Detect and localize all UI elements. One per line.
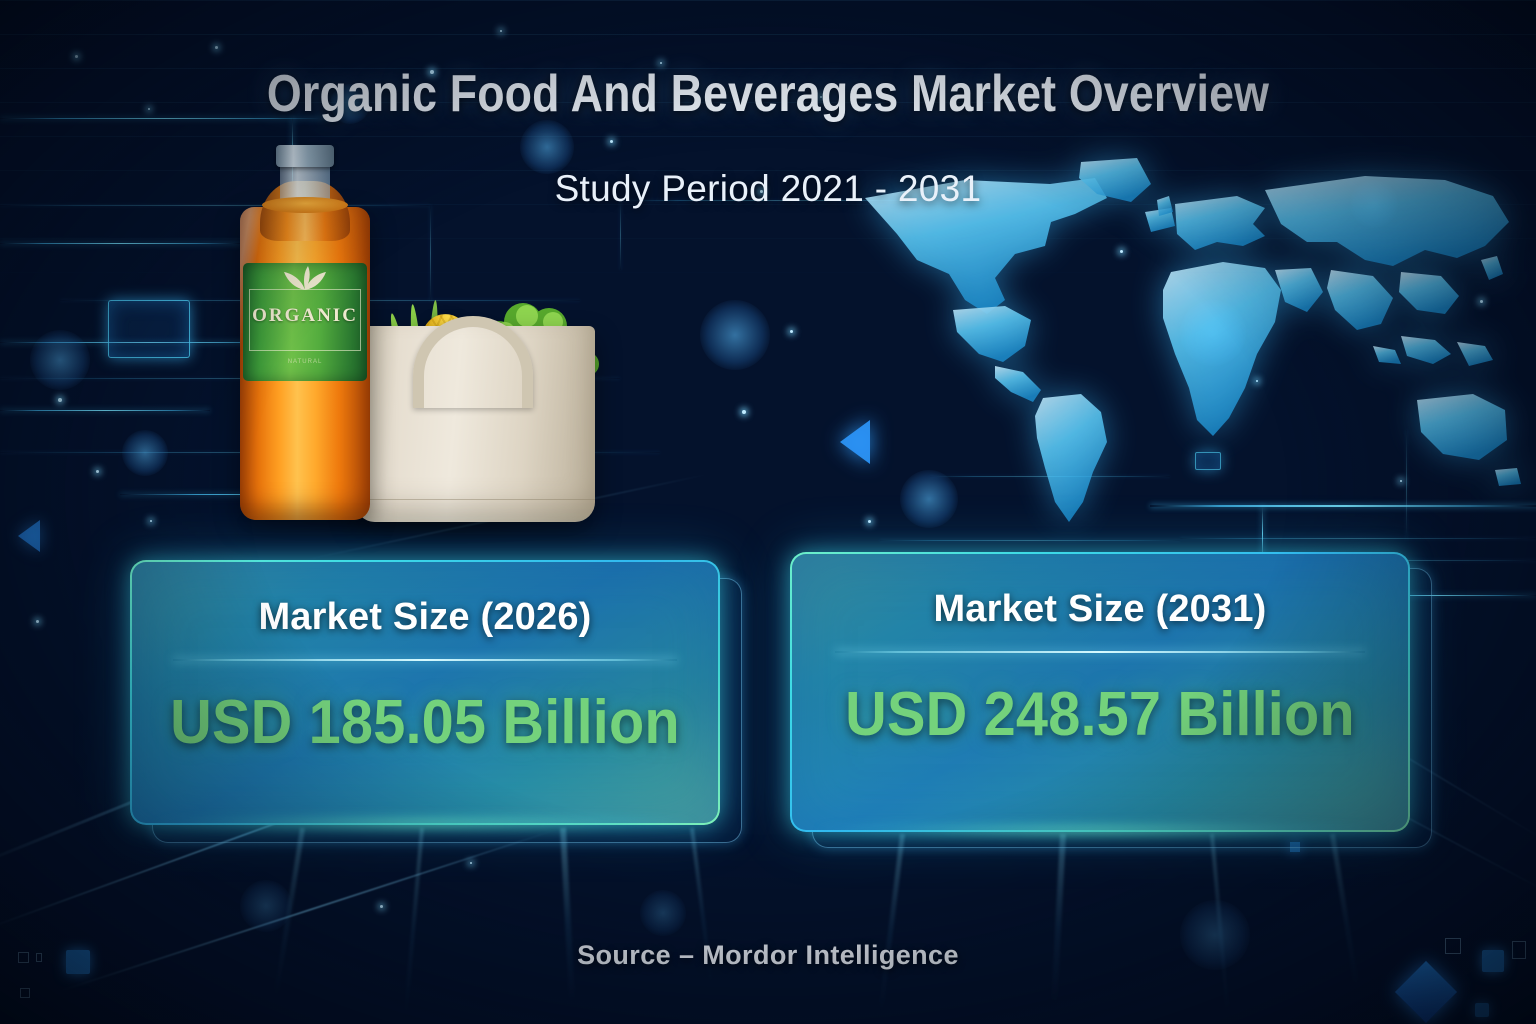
card-divider [173, 659, 677, 661]
stat-cards-group: Market Size (2026) USD 185.05 Billion Ma… [0, 0, 1536, 1024]
card-underglow [817, 822, 1384, 838]
infographic-canvas: ORGANIC NATURAL Organic Food And Beverag… [0, 0, 1536, 1024]
stat-card-value: USD 185.05 Billion [170, 687, 680, 758]
stat-card-label: Market Size (2031) [933, 588, 1266, 631]
source-attribution: Source – Mordor Intelligence [0, 940, 1536, 971]
stat-card-market-size-2031[interactable]: Market Size (2031) USD 248.57 Billion [790, 552, 1410, 832]
stat-card-value: USD 248.57 Billion [845, 679, 1355, 750]
stat-card-label: Market Size (2026) [258, 596, 591, 639]
card-underglow [155, 815, 694, 831]
stat-card-market-size-2026[interactable]: Market Size (2026) USD 185.05 Billion [130, 560, 720, 825]
card-divider [835, 651, 1365, 653]
